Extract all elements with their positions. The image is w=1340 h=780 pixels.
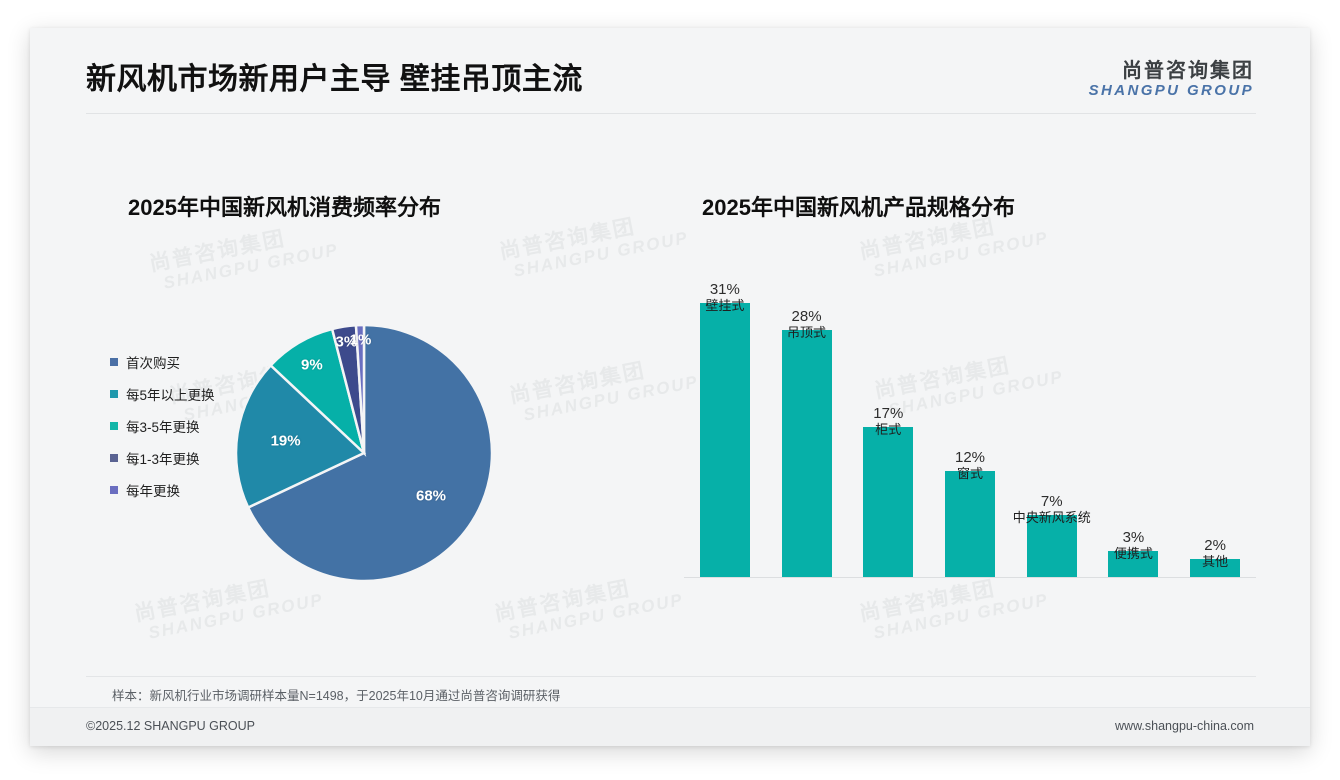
legend-label: 首次购买 <box>126 352 180 372</box>
bar-column[interactable]: 17%柜式 <box>848 405 928 577</box>
legend-swatch-icon <box>110 422 118 430</box>
pie-slice-label: 68% <box>416 487 446 504</box>
legend-item[interactable]: 每3-5年更换 <box>110 410 240 442</box>
bar-category-label: 吊顶式 <box>767 322 847 341</box>
website-link[interactable]: www.shangpu-china.com <box>1115 719 1254 733</box>
bar-category-label: 其他 <box>1175 551 1255 570</box>
legend-item[interactable]: 首次购买 <box>110 346 240 378</box>
pie-chart: 68% 19% 9% 3% 1% <box>234 323 494 583</box>
logo-cn-text: 尚普咨询集团 <box>1122 60 1254 82</box>
bar-column[interactable]: 7%中央新风系统 <box>1012 493 1092 577</box>
bar-category-label: 中央新风系统 <box>1012 507 1092 526</box>
legend-item[interactable]: 每5年以上更换 <box>110 378 240 410</box>
pie-chart-panel: 2025年中国新风机消费频率分布 首次购买 每5年以上更换 每3-5年更换 每1… <box>86 168 646 648</box>
bar-column[interactable]: 31%壁挂式 <box>685 281 765 577</box>
bar-rect[interactable] <box>700 303 750 577</box>
bar-category-label: 便携式 <box>1093 543 1173 562</box>
legend-swatch-icon <box>110 454 118 462</box>
pie-slice-label: 9% <box>301 356 323 373</box>
bar-column[interactable]: 12%窗式 <box>930 449 1010 577</box>
legend-item[interactable]: 每1-3年更换 <box>110 442 240 474</box>
page-title: 新风机市场新用户主导 壁挂吊顶主流 <box>86 54 583 98</box>
bar-rect[interactable] <box>782 330 832 577</box>
bar-chart-title: 2025年中国新风机产品规格分布 <box>702 190 1015 222</box>
brand-logo: 尚普咨询集团 SHANGPU GROUP <box>1089 60 1254 100</box>
bar-chart-axis-line <box>684 577 1256 578</box>
legend-label: 每3-5年更换 <box>126 416 200 436</box>
slide-header: 新风机市场新用户主导 壁挂吊顶主流 尚普咨询集团 SHANGPU GROUP <box>30 28 1310 114</box>
slide-footer: ©2025.12 SHANGPU GROUP www.shangpu-china… <box>30 707 1310 746</box>
footnote-divider <box>86 676 1256 677</box>
legend-swatch-icon <box>110 390 118 398</box>
pie-slice-label: 1% <box>350 332 372 349</box>
bar-rect[interactable] <box>945 471 995 577</box>
pie-legend: 首次购买 每5年以上更换 每3-5年更换 每1-3年更换 每年更换 <box>110 346 240 506</box>
copyright-text: ©2025.12 SHANGPU GROUP <box>86 719 255 733</box>
legend-label: 每5年以上更换 <box>126 384 215 404</box>
bar-column[interactable]: 3%便携式 <box>1093 529 1173 577</box>
bar-rect[interactable] <box>863 427 913 577</box>
footnote-text: 样本：新风机行业市场调研样本量N=1498，于2025年10月通过尚普咨询调研获… <box>112 685 560 704</box>
bar-column[interactable]: 2%其他 <box>1175 537 1255 577</box>
header-divider <box>86 113 1256 114</box>
legend-item[interactable]: 每年更换 <box>110 474 240 506</box>
logo-en-text: SHANGPU GROUP <box>1089 82 1254 99</box>
legend-swatch-icon <box>110 486 118 494</box>
pie-chart-svg <box>234 323 494 583</box>
bar-category-label: 壁挂式 <box>685 295 765 314</box>
pie-chart-title: 2025年中国新风机消费频率分布 <box>128 190 441 222</box>
pie-slice-label: 19% <box>271 432 301 449</box>
bar-category-label: 窗式 <box>930 463 1010 482</box>
bar-chart-plot: 31%壁挂式28%吊顶式17%柜式12%窗式7%中央新风系统3%便携式2%其他 <box>684 258 1256 578</box>
legend-label: 每1-3年更换 <box>126 448 200 468</box>
slide-canvas: 尚普咨询集团 SHANGPU GROUP 尚普咨询集团 SHANGPU GROU… <box>30 28 1310 746</box>
bar-category-label: 柜式 <box>848 419 928 438</box>
bar-column[interactable]: 28%吊顶式 <box>767 308 847 577</box>
legend-label: 每年更换 <box>126 480 180 500</box>
legend-swatch-icon <box>110 358 118 366</box>
bar-chart-panel: 2025年中国新风机产品规格分布 31%壁挂式28%吊顶式17%柜式12%窗式7… <box>670 168 1270 648</box>
